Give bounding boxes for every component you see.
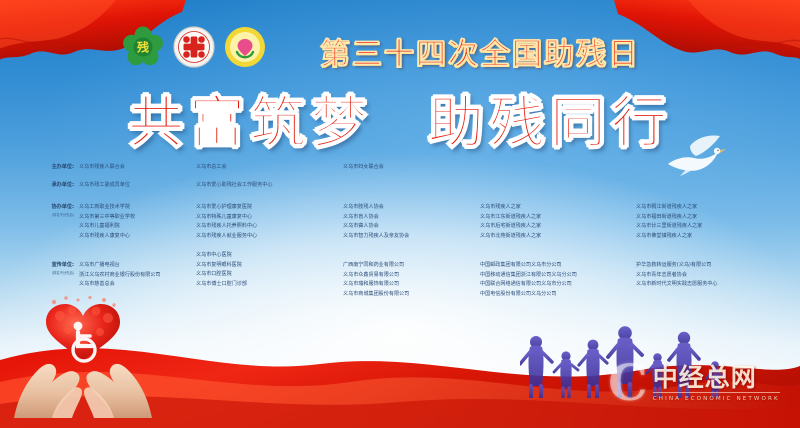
- credits-block: 主办单位: 义乌市残疾人联合会 义乌市总工会 义乌市妇女联合会 承办单位: 义乌…: [28, 163, 788, 313]
- credit-label: 协办单位: (排名不分先后): [28, 203, 79, 218]
- poster-canvas: 残: [0, 0, 800, 428]
- credit-col: 义乌市爱心护理康复医院 义乌市特殊儿童康复中心 义乌市残疾人托养照料中心 义乌市…: [196, 203, 257, 241]
- watermark-divider: [653, 392, 780, 393]
- red-cross-society-emblem-icon: [173, 26, 215, 68]
- charity-federation-emblem-icon: [224, 26, 266, 68]
- emblem-logo-group: 残: [122, 26, 266, 68]
- credit-col: 护华急救转运服务(义乌)有限公司 义乌市青年志愿者协会 义乌市新时代文明实践志愿…: [636, 261, 718, 290]
- watermark-en: CHINA ECONOMIC NETWORK: [653, 396, 780, 402]
- credit-col: 义乌市总工会: [196, 163, 227, 173]
- credit-label: 承办单位:: [28, 181, 79, 191]
- credit-group-organizer: 承办单位:: [28, 181, 79, 191]
- watermark: C 中经总网 CHINA ECONOMIC NETWORK: [608, 354, 794, 412]
- credit-group-host: 主办单位:: [28, 163, 79, 173]
- credit-col: 义乌市广播电视台 浙江义乌农村商业银行股份有限公司 义乌市慈善总会: [79, 261, 161, 290]
- credit-label: 主办单位:: [28, 163, 79, 173]
- credit-col: 义乌市爱心助残社会工作服务中心: [196, 181, 272, 191]
- petal-heart-with-hands-graphic: [8, 296, 158, 422]
- credit-col: 义乌工商职业技术学院 义乌市第三中等职业学校 义乌市儿童福利院 义乌市残疾人康复…: [79, 203, 135, 241]
- credit-col: 义乌市肢残人协会 义乌市盲人协会 义乌市聋人协会 义乌市智力残疾人及亲友协会: [343, 203, 409, 241]
- credit-col: 广西南宁同和药业有限公司 义乌市众鑫贸易有限公司 义乌市瑞和服饰有限公司 义乌市…: [343, 261, 409, 299]
- header-title: 第三十四次全国助残日: [280, 30, 680, 72]
- watermark-cn: 中经总网: [653, 364, 780, 391]
- svg-text:残: 残: [137, 40, 149, 55]
- slogan-right: 助残同行: [428, 78, 672, 159]
- credit-col: 中国邮政集团有限公司义乌市分公司 中国移动通信集团浙江有限公司义乌分公司 中国联…: [480, 261, 577, 299]
- watermark-text: 中经总网 CHINA ECONOMIC NETWORK: [653, 364, 780, 402]
- china-disabled-persons-federation-emblem-icon: 残: [122, 26, 164, 68]
- credit-col: 义乌市中心医院 义乌市复明眼科医院 义乌市口腔医院 义乌市博士口腔门诊部: [196, 251, 247, 289]
- slogan-left: 共富筑梦: [128, 78, 372, 159]
- credit-col: 义乌市残疾人联合会: [79, 163, 125, 173]
- credit-col: 义乌市稠江街道残疾人之家 义乌市福田街道残疾人之家 义乌市廿三里街道残疾人之家 …: [636, 203, 702, 241]
- credit-group-coorganizer: 协办单位: (排名不分先后): [28, 203, 79, 218]
- watermark-logo-letter: C: [608, 359, 648, 407]
- credit-col: 义乌市残疾人之家 义乌市江东街道残疾人之家 义乌市后宅街道残疾人之家 义乌市北苑…: [480, 203, 541, 241]
- credit-col: 义乌市残工委成员单位: [79, 181, 130, 191]
- credit-col: 义乌市妇女联合会: [343, 163, 384, 173]
- credit-label: 宣传单位: (排名不分先后): [28, 261, 79, 276]
- credit-group-publicity: 宣传单位: (排名不分先后): [28, 261, 79, 276]
